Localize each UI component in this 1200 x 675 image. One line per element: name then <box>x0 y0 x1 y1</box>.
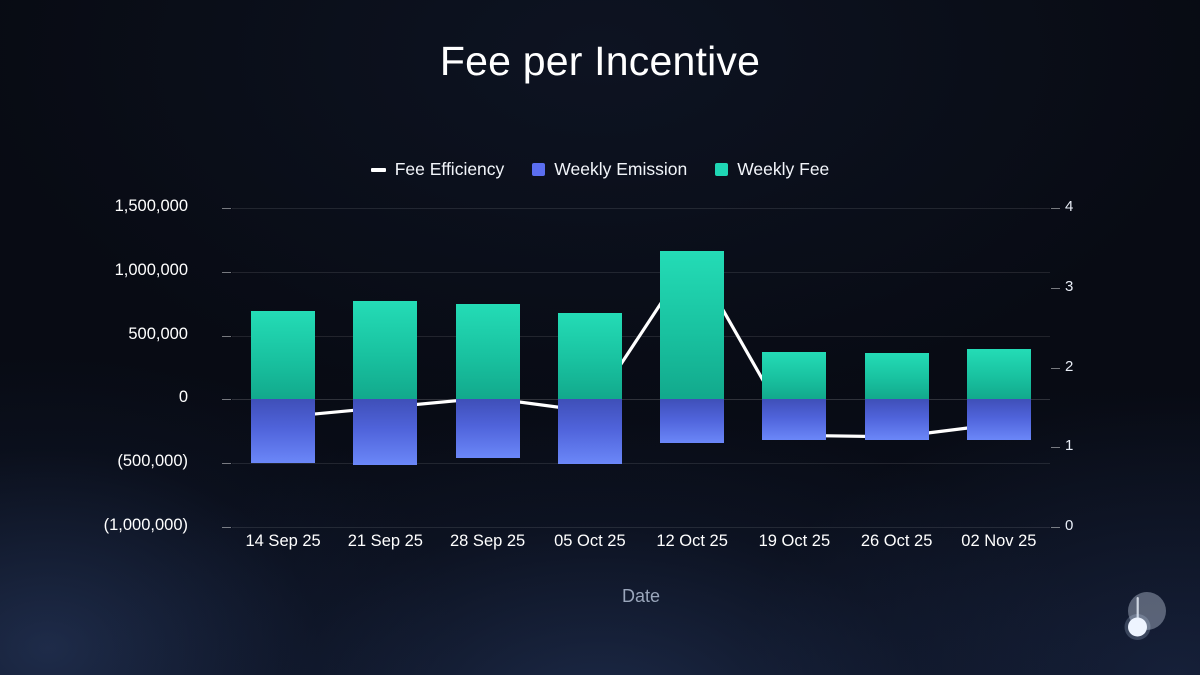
y-axis-tick-right: 2 <box>1065 358 1073 375</box>
bar-group[interactable] <box>456 208 520 527</box>
bar-weekly-fee[interactable] <box>558 313 622 399</box>
y-axis-tick-right: 0 <box>1065 517 1073 534</box>
y-axis-tickmark-left <box>222 527 231 528</box>
bar-group[interactable] <box>762 208 826 527</box>
y-axis-tick-left: (500,000) <box>117 452 188 471</box>
y-axis-tickmark-left <box>222 208 231 209</box>
x-axis-title: Date <box>232 586 1050 607</box>
bar-weekly-fee[interactable] <box>762 352 826 400</box>
legend-swatch-square-icon <box>532 163 545 176</box>
y-axis-tickmark-left <box>222 336 231 337</box>
bar-weekly-emission[interactable] <box>456 399 520 458</box>
bar-weekly-emission[interactable] <box>967 399 1031 439</box>
x-axis-label: 12 Oct 25 <box>641 532 743 551</box>
legend-swatch-square-icon <box>715 163 728 176</box>
x-axis-label: 05 Oct 25 <box>539 532 641 551</box>
y-axis-tickmark-left <box>222 272 231 273</box>
gridline <box>232 527 1050 528</box>
bar-group[interactable] <box>967 208 1031 527</box>
y-axis-tickmark-right <box>1051 208 1060 209</box>
legend-label: Weekly Emission <box>554 159 687 180</box>
legend-label: Fee Efficiency <box>395 159 505 180</box>
chart-canvas: Fee per Incentive Fee EfficiencyWeekly E… <box>0 0 1200 675</box>
bar-weekly-fee[interactable] <box>660 251 724 400</box>
bar-weekly-emission[interactable] <box>660 399 724 442</box>
x-axis-labels: 14 Sep 2521 Sep 2528 Sep 2505 Oct 2512 O… <box>232 532 1050 558</box>
y-axis-tickmark-right <box>1051 368 1060 369</box>
x-axis-label: 28 Sep 25 <box>437 532 539 551</box>
bar-weekly-fee[interactable] <box>251 311 315 399</box>
legend-item-weekly-fee[interactable]: Weekly Fee <box>715 159 829 180</box>
y-axis-tickmark-right <box>1051 288 1060 289</box>
y-axis-tickmark-left <box>222 463 231 464</box>
y-axis-tick-left: 1,500,000 <box>115 197 188 216</box>
bar-weekly-emission[interactable] <box>251 399 315 463</box>
y-axis-tickmark-right <box>1051 527 1060 528</box>
bar-weekly-emission[interactable] <box>762 399 826 440</box>
y-axis-tickmark-right <box>1051 447 1060 448</box>
x-axis-label: 02 Nov 25 <box>948 532 1050 551</box>
bar-weekly-emission[interactable] <box>865 399 929 440</box>
y-axis-tick-left: 0 <box>179 388 188 407</box>
bar-group[interactable] <box>251 208 315 527</box>
bar-weekly-fee[interactable] <box>456 304 520 399</box>
y-axis-tick-right: 1 <box>1065 437 1073 454</box>
plot-area <box>232 208 1050 527</box>
page-title: Fee per Incentive <box>0 38 1200 85</box>
bar-group[interactable] <box>353 208 417 527</box>
y-axis-tick-right: 3 <box>1065 278 1073 295</box>
bar-weekly-emission[interactable] <box>558 399 622 463</box>
bar-weekly-fee[interactable] <box>865 353 929 400</box>
x-axis-label: 21 Sep 25 <box>334 532 436 551</box>
x-axis-label: 26 Oct 25 <box>846 532 948 551</box>
bar-group[interactable] <box>558 208 622 527</box>
y-axis-tick-left: 1,000,000 <box>115 261 188 280</box>
y-axis-tick-left: 500,000 <box>128 325 188 344</box>
x-axis-label: 19 Oct 25 <box>743 532 845 551</box>
chart-legend: Fee EfficiencyWeekly EmissionWeekly Fee <box>0 159 1200 180</box>
legend-item-weekly-emission[interactable]: Weekly Emission <box>532 159 687 180</box>
bar-weekly-emission[interactable] <box>353 399 417 465</box>
y-axis-tickmark-left <box>222 399 231 400</box>
x-axis-label: 14 Sep 25 <box>232 532 334 551</box>
y-axis-tick-right: 4 <box>1065 198 1073 215</box>
bar-group[interactable] <box>660 208 724 527</box>
legend-label: Weekly Fee <box>737 159 829 180</box>
brand-logo-icon <box>1111 585 1173 647</box>
y-axis-tick-left: (1,000,000) <box>104 516 188 535</box>
bar-weekly-fee[interactable] <box>967 349 1031 399</box>
legend-swatch-line-icon <box>371 168 386 172</box>
legend-item-fee-efficiency[interactable]: Fee Efficiency <box>371 159 505 180</box>
bar-group[interactable] <box>865 208 929 527</box>
bar-weekly-fee[interactable] <box>353 301 417 399</box>
